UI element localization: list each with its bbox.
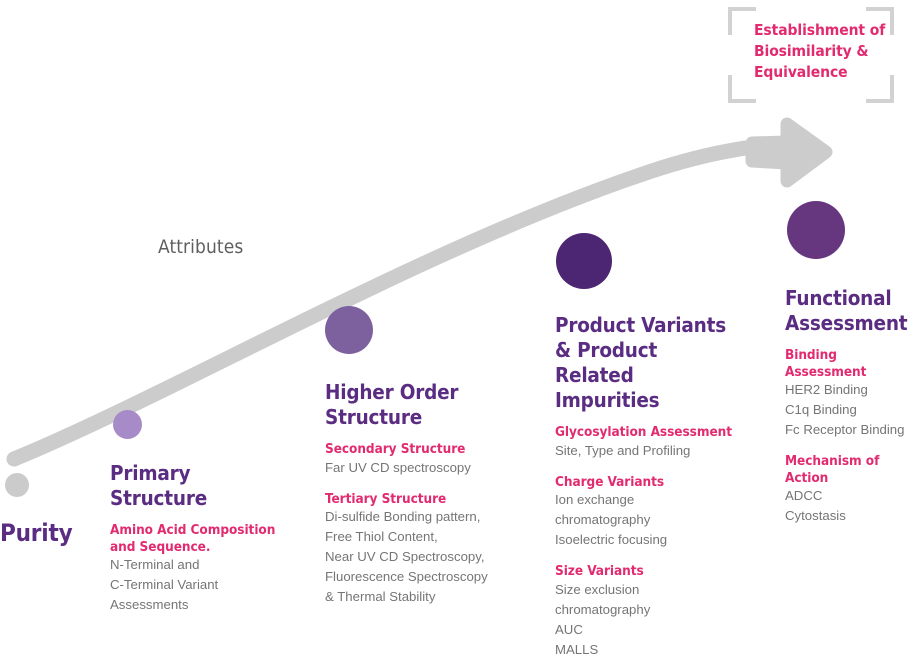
- stage-item: Di-sulfide Bonding pattern,: [325, 507, 525, 527]
- stage-item: ADCC: [785, 486, 920, 506]
- stage-purity: Purity: [0, 519, 72, 547]
- stage-dot-variants: [556, 233, 612, 289]
- stage-dot-primary: [113, 410, 142, 439]
- attributes-label: Attributes: [158, 236, 243, 258]
- stage-group: Charge VariantsIon exchangechromatograph…: [555, 474, 735, 551]
- stage-item: C-Terminal Variant: [110, 575, 280, 595]
- stage-group-items: HER2 BindingC1q BindingFc Receptor Bindi…: [785, 380, 920, 440]
- stage-product-variants: Product Variants & Product Related Impur…: [555, 313, 735, 660]
- stage-group-subhead: Charge Variants: [555, 474, 735, 491]
- stage-item: Free Thiol Content,: [325, 527, 525, 547]
- stage-group-subhead: Tertiary Structure: [325, 491, 525, 508]
- stage-group: Binding AssessmentHER2 BindingC1q Bindin…: [785, 347, 920, 440]
- stage-item: C1q Binding: [785, 400, 920, 420]
- stage-groups-primary: Amino Acid Composition and Sequence.N-Te…: [110, 522, 280, 615]
- stage-group-items: Site, Type and Profiling: [555, 441, 735, 461]
- stage-item: AUC: [555, 620, 735, 640]
- stage-item: Size exclusion: [555, 580, 735, 600]
- stage-group: Tertiary StructureDi-sulfide Bonding pat…: [325, 491, 525, 608]
- stage-group-subhead: Size Variants: [555, 563, 735, 580]
- stage-item: N-Terminal and: [110, 555, 280, 575]
- stage-group: Glycosylation AssessmentSite, Type and P…: [555, 424, 735, 461]
- stage-group: Secondary StructureFar UV CD spectroscop…: [325, 441, 525, 478]
- stage-group-subhead: Mechanism of Action: [785, 453, 920, 486]
- stage-title-functional: Functional Assessment: [785, 286, 920, 336]
- bracket-top-left-icon: [728, 7, 756, 35]
- stage-item: Cytostasis: [785, 506, 920, 526]
- stage-group-items: Size exclusionchromatographyAUCMALLS: [555, 580, 735, 660]
- stage-item: HER2 Binding: [785, 380, 920, 400]
- stage-title-primary: Primary Structure: [110, 461, 280, 511]
- stage-item: Fluorescence Spectroscopy: [325, 567, 525, 587]
- stage-title-hos: Higher Order Structure: [325, 380, 525, 430]
- biosimilarity-callout: Establishment of Biosimilarity & Equival…: [728, 7, 894, 103]
- stage-group-items: ADCCCytostasis: [785, 486, 920, 526]
- stage-item: Site, Type and Profiling: [555, 441, 735, 461]
- stage-item: & Thermal Stability: [325, 587, 525, 607]
- stage-title-variants: Product Variants & Product Related Impur…: [555, 313, 735, 413]
- stage-group-items: Far UV CD spectroscopy: [325, 458, 525, 478]
- bracket-bottom-left-icon: [728, 75, 756, 103]
- stage-group-subhead: Binding Assessment: [785, 347, 920, 380]
- stage-group: Size VariantsSize exclusionchromatograph…: [555, 563, 735, 660]
- stage-dot-functional: [787, 201, 845, 259]
- callout-line-2: Biosimilarity &: [754, 41, 894, 62]
- stage-dot-hos: [325, 306, 373, 354]
- stage-item: Fc Receptor Binding: [785, 420, 920, 440]
- stage-item: Far UV CD spectroscopy: [325, 458, 525, 478]
- stage-dot-purity: [5, 473, 29, 497]
- stage-item: Ion exchange: [555, 490, 735, 510]
- stage-primary: Primary Structure Amino Acid Composition…: [110, 461, 280, 615]
- stage-item: Isoelectric focusing: [555, 530, 735, 550]
- stage-item: chromatography: [555, 510, 735, 530]
- callout-line-1: Establishment of: [754, 20, 894, 41]
- stage-groups-functional: Binding AssessmentHER2 BindingC1q Bindin…: [785, 347, 920, 526]
- stage-group-subhead: Glycosylation Assessment: [555, 424, 735, 441]
- infographic-canvas: Establishment of Biosimilarity & Equival…: [0, 0, 920, 656]
- callout-text: Establishment of Biosimilarity & Equival…: [754, 20, 894, 83]
- stage-functional-assessment: Functional Assessment Binding Assessment…: [785, 286, 920, 526]
- stage-groups-hos: Secondary StructureFar UV CD spectroscop…: [325, 441, 525, 607]
- stage-item: chromatography: [555, 600, 735, 620]
- stage-group-subhead: Secondary Structure: [325, 441, 525, 458]
- stage-item: Assessments: [110, 595, 280, 615]
- stage-group-items: Ion exchangechromatographyIsoelectric fo…: [555, 490, 735, 550]
- stage-item: Near UV CD Spectroscopy,: [325, 547, 525, 567]
- stage-group: Amino Acid Composition and Sequence.N-Te…: [110, 522, 280, 615]
- stage-group-items: Di-sulfide Bonding pattern,Free Thiol Co…: [325, 507, 525, 607]
- stage-group: Mechanism of ActionADCCCytostasis: [785, 453, 920, 526]
- stage-item: MALLS: [555, 640, 735, 660]
- stage-group-items: N-Terminal andC-Terminal VariantAssessme…: [110, 555, 280, 615]
- stage-group-subhead: Amino Acid Composition and Sequence.: [110, 522, 280, 555]
- stage-higher-order-structure: Higher Order Structure Secondary Structu…: [325, 380, 525, 607]
- stage-groups-variants: Glycosylation AssessmentSite, Type and P…: [555, 424, 735, 660]
- stage-title-purity: Purity: [0, 519, 72, 547]
- callout-line-3: Equivalence: [754, 62, 894, 83]
